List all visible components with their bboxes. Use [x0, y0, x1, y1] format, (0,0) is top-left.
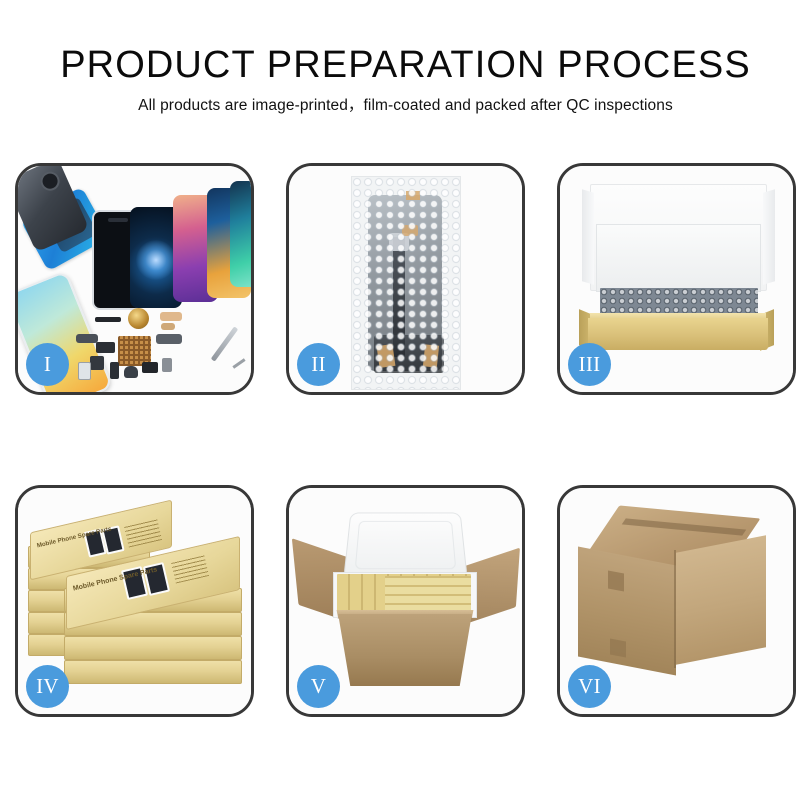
- small-component-3: [110, 362, 119, 379]
- step-badge-1: I: [26, 343, 69, 386]
- foam-lid-open: [343, 513, 468, 580]
- step-badge-3: III: [568, 343, 611, 386]
- step-panel-6: VI: [557, 485, 796, 717]
- small-component-5: [142, 362, 158, 373]
- step-panel-2: II: [286, 163, 525, 395]
- step-panel-3: III: [557, 163, 796, 395]
- battery-strip-part: [95, 317, 121, 322]
- flex-cable-part-4: [76, 334, 98, 343]
- small-component-7: [78, 362, 91, 380]
- step-badge-6: VI: [568, 665, 611, 708]
- gold-boxes-row-2: [385, 576, 471, 612]
- stacked-box-front-4: [64, 660, 242, 684]
- sealed-carton-front: [578, 546, 676, 675]
- header: PRODUCT PREPARATION PROCESS All products…: [0, 44, 811, 116]
- page-title: PRODUCT PREPARATION PROCESS: [0, 44, 811, 86]
- phone-teal-display: [230, 181, 254, 287]
- speaker-component: [124, 366, 138, 378]
- small-component-1: [96, 342, 115, 353]
- step-badge-2: II: [297, 343, 340, 386]
- small-component-2: [90, 356, 104, 370]
- step-panel-4: Mobile Phone Spare Parts Mobile Phone Sp…: [15, 485, 254, 717]
- flex-cable-part-2: [161, 323, 175, 330]
- carton-tape-upper: [608, 570, 624, 591]
- carton-body: [329, 614, 481, 686]
- bubble-wrap-bag: [351, 176, 461, 390]
- flex-cable-part-3: [156, 334, 182, 344]
- flex-cable-part-1: [160, 312, 182, 321]
- product-preparation-page: PRODUCT PREPARATION PROCESS All products…: [0, 0, 811, 811]
- step-panel-1: I: [15, 163, 254, 395]
- tweezers-icon: [232, 358, 245, 368]
- sim-tray-component: [162, 358, 172, 372]
- sealed-carton-side: [676, 535, 766, 664]
- sealed-carton-edge: [674, 550, 676, 668]
- step-badge-4: IV: [26, 665, 69, 708]
- carton-tape-lower: [610, 638, 626, 657]
- box-front-face: [588, 318, 768, 350]
- page-subtitle: All products are image-printed，film-coat…: [0, 96, 811, 116]
- bubble-texture: [352, 177, 460, 389]
- process-step-grid: I II: [15, 163, 796, 717]
- box-foam-sheet: [596, 224, 761, 292]
- step-badge-5: V: [297, 665, 340, 708]
- stacked-box-front-3: [64, 636, 242, 660]
- screwdriver-icon: [211, 326, 239, 361]
- copper-coil-part: [128, 308, 149, 329]
- step-panel-5: V: [286, 485, 525, 717]
